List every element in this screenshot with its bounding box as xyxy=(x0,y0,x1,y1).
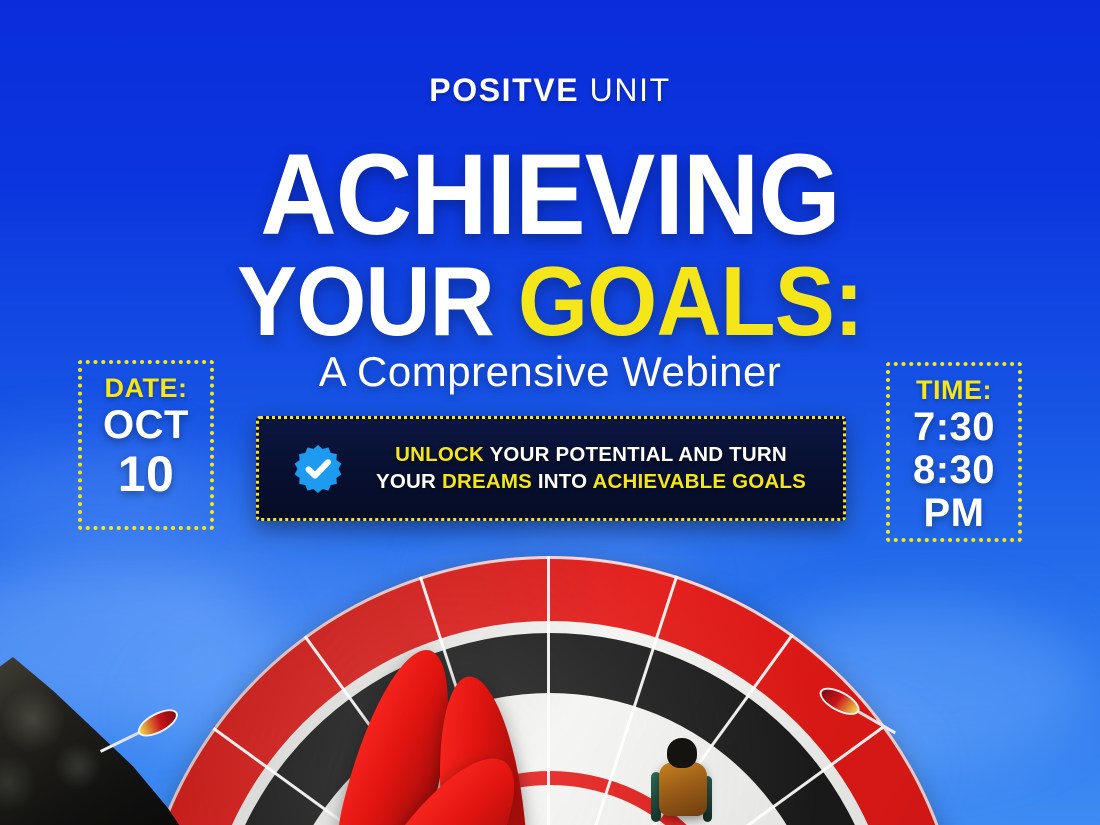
cta-line-1-part-1: UNLOCK xyxy=(395,443,484,466)
webinar-poster: POSITVE UNIT ACHIEVING YOUR GOALS: A Com… xyxy=(0,0,1100,825)
page-title-line-1: ACHIEVING xyxy=(44,140,1056,250)
cta-banner: UNLOCK YOUR POTENTIAL AND TURN YOUR DREA… xyxy=(256,416,846,521)
time-start: 7:30 xyxy=(896,406,1012,449)
cta-line-1-part-2: YOUR POTENTIAL AND TURN xyxy=(490,443,787,466)
poster-content: POSITVE UNIT ACHIEVING YOUR GOALS: A Com… xyxy=(0,0,1100,825)
time-label: TIME: xyxy=(896,376,1012,406)
date-day: 10 xyxy=(88,447,204,501)
cta-line-2-part-4: ACHIEVABLE GOALS xyxy=(592,470,806,493)
brand-name-light: UNIT xyxy=(590,72,671,108)
page-title-line-2-accent: GOALS: xyxy=(518,246,863,356)
brand-name: POSITVE UNIT xyxy=(0,72,1100,109)
verified-check-icon xyxy=(293,444,343,494)
time-meridiem: PM xyxy=(896,492,1012,535)
time-badge: TIME: 7:30 8:30 PM xyxy=(886,362,1022,542)
page-title-line-2-white: YOUR xyxy=(237,246,518,356)
cta-line-1: UNLOCK YOUR POTENTIAL AND TURN xyxy=(361,442,821,468)
cta-text: UNLOCK YOUR POTENTIAL AND TURN YOUR DREA… xyxy=(361,442,821,494)
cta-line-2-part-1: YOUR xyxy=(376,470,436,493)
time-end: 8:30 xyxy=(896,449,1012,492)
brand-name-strong: POSITVE xyxy=(429,72,579,108)
date-badge: DATE: OCT 10 xyxy=(78,360,214,530)
page-title-line-2: YOUR GOALS: xyxy=(44,252,1056,350)
date-label: DATE: xyxy=(88,374,204,404)
cta-line-2-part-2: DREAMS xyxy=(442,470,532,493)
date-month: OCT xyxy=(88,404,204,447)
cta-line-2-part-3: INTO xyxy=(538,470,587,493)
cta-line-2: YOUR DREAMS INTO ACHIEVABLE GOALS xyxy=(361,469,821,495)
